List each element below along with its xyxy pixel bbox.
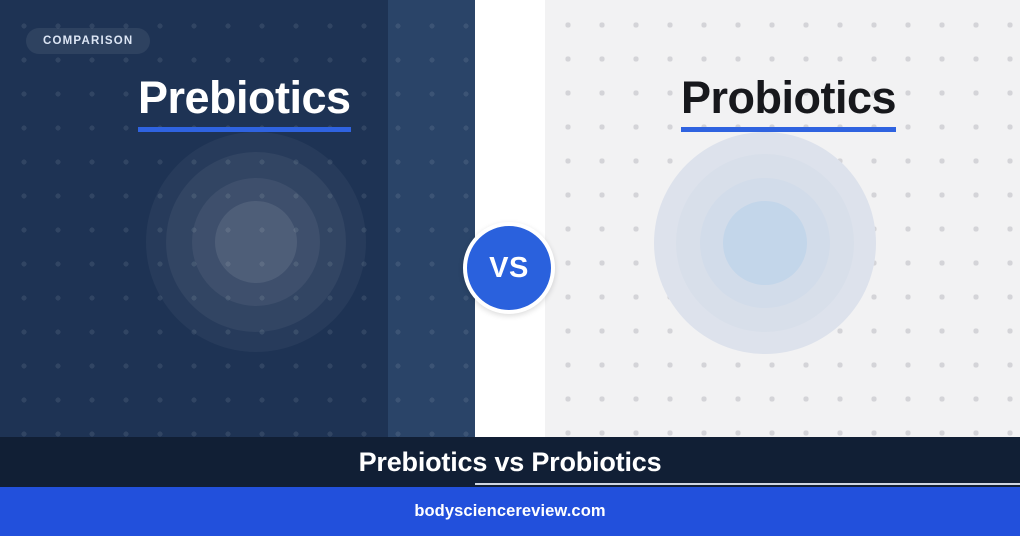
concentric-circles-icon	[215, 201, 297, 283]
comparison-badge: COMPARISON	[26, 28, 150, 54]
comparison-poster: COMPARISON Prebiotics Probiotics VS Preb…	[0, 0, 1020, 536]
footer-url-text: bodysciencereview.com	[414, 502, 605, 521]
center-divider-band	[475, 0, 545, 437]
caption-title: Prebiotics vs Probiotics	[359, 447, 662, 478]
vs-badge: VS	[463, 222, 555, 314]
left-panel-title: Prebiotics	[138, 75, 351, 132]
caption-bar: Prebiotics vs Probiotics	[0, 437, 1020, 487]
caption-underline-rule	[475, 483, 1020, 485]
right-panel-title: Probiotics	[681, 75, 896, 132]
concentric-circles-icon	[723, 201, 807, 285]
footer-url-bar: bodysciencereview.com	[0, 487, 1020, 536]
poster-stage: COMPARISON Prebiotics Probiotics VS	[0, 0, 1020, 437]
